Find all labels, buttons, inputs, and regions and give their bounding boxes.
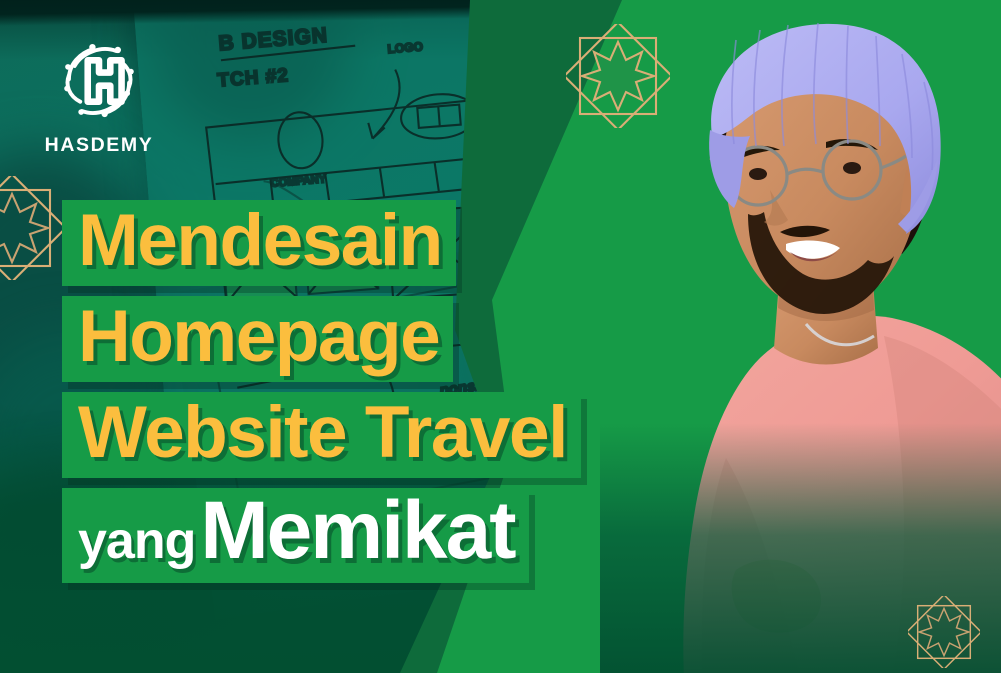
headline-line-3: Website Travel [78,398,567,468]
headline-line-4-small: yang [78,517,195,567]
hasdemy-circuit-h-logo-icon [52,34,146,128]
islamic-star-ornament-left [0,176,64,280]
islamic-star-ornament-top-right [566,24,670,128]
headline-row-1: Mendesain [62,200,581,286]
headline-highlight-block: Homepage [62,296,453,382]
headline-highlight-block: Mendesain [62,200,456,286]
headline-line-1: Mendesain [78,206,442,276]
headline-row-4: yangMemikat [62,488,581,583]
headline-line-4-big: Memikat [200,492,514,571]
headline-highlight-block: yangMemikat [62,488,529,583]
person-photo [640,18,1001,673]
islamic-star-ornament-bottom-right [908,596,980,668]
headline-row-2: Homepage [62,296,581,382]
brand-logo[interactable]: HASDEMY [39,34,159,157]
headline: Mendesain Homepage Website Travel yangMe… [62,200,581,583]
headline-highlight-block: Website Travel [62,392,581,478]
promo-banner: B DESIGN TCH #2 LOGO COMPANY array x5 50… [0,0,1001,673]
brand-wordmark: HASDEMY [39,134,159,157]
headline-row-3: Website Travel [62,392,581,478]
headline-line-2: Homepage [78,302,439,372]
